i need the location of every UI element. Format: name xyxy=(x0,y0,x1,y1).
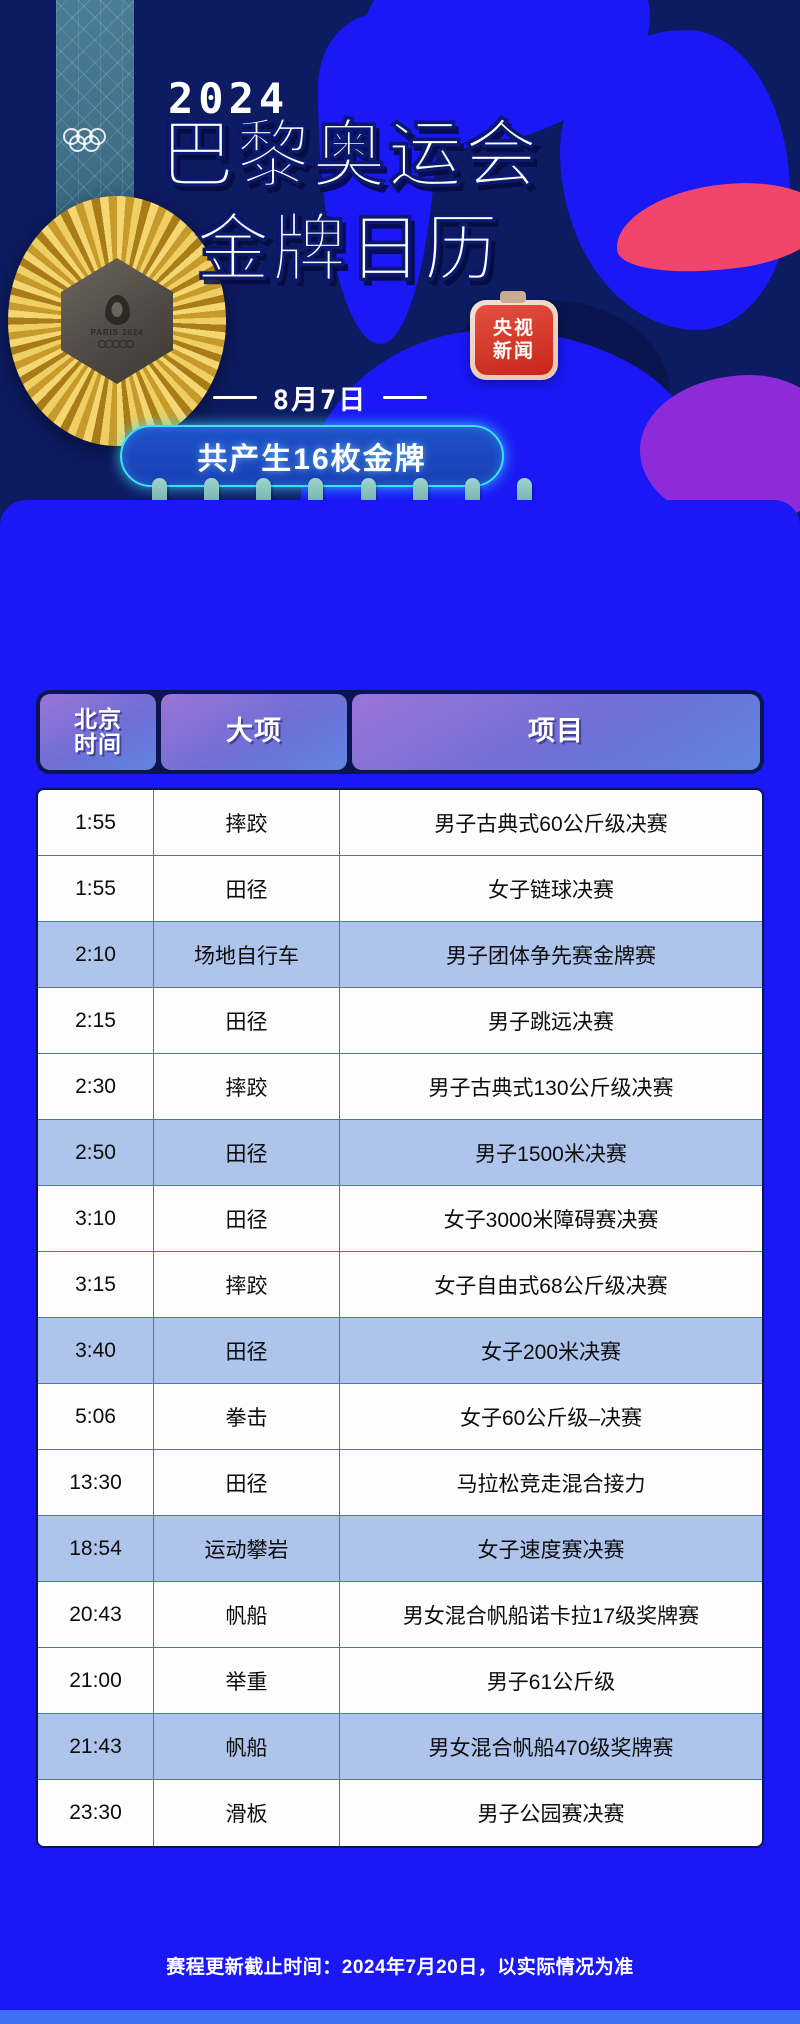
table-row: 3:10田径女子3000米障碍赛决赛 xyxy=(38,1186,762,1252)
cell-time: 1:55 xyxy=(38,856,154,922)
cell-time: 23:30 xyxy=(38,1780,154,1846)
cell-sport: 摔跤 xyxy=(154,1252,340,1318)
cell-event: 男女混合帆船诺卡拉17级奖牌赛 xyxy=(340,1582,762,1648)
table-row: 23:30滑板男子公园赛决赛 xyxy=(38,1780,762,1846)
cell-event: 男子1500米决赛 xyxy=(340,1120,762,1186)
cell-sport: 田径 xyxy=(154,1318,340,1384)
column-header-time: 北京 时间 xyxy=(40,694,156,770)
cell-event: 女子200米决赛 xyxy=(340,1318,762,1384)
cell-event: 男子古典式130公斤级决赛 xyxy=(340,1054,762,1120)
cell-sport: 摔跤 xyxy=(154,1054,340,1120)
cell-event: 男女混合帆船470级奖牌赛 xyxy=(340,1714,762,1780)
cell-time: 21:00 xyxy=(38,1648,154,1714)
table-row: 5:06拳击女子60公斤级–决赛 xyxy=(38,1384,762,1450)
cell-sport: 场地自行车 xyxy=(154,922,340,988)
cell-event: 男子团体争先赛金牌赛 xyxy=(340,922,762,988)
cell-event: 男子公园赛决赛 xyxy=(340,1780,762,1846)
table-header-row: 北京 时间 大项 项目 xyxy=(36,690,764,774)
olympic-gold-calendar-poster: PARIS 2024 2024 巴黎奥运会 金牌日历 央视 新闻 8月7日 共产… xyxy=(0,0,800,2024)
cell-sport: 田径 xyxy=(154,1120,340,1186)
table-row: 21:43帆船男女混合帆船470级奖牌赛 xyxy=(38,1714,762,1780)
cell-event: 男子古典式60公斤级决赛 xyxy=(340,790,762,856)
medal-count-label: 共产生16枚金牌 xyxy=(197,434,426,478)
table-row: 1:55摔跤男子古典式60公斤级决赛 xyxy=(38,790,762,856)
cell-time: 2:50 xyxy=(38,1120,154,1186)
paris2024-flame-icon xyxy=(105,295,130,325)
cell-time: 13:30 xyxy=(38,1450,154,1516)
table-body: 1:55摔跤男子古典式60公斤级决赛1:55田径女子链球决赛2:10场地自行车男… xyxy=(36,788,764,1848)
cell-event: 女子3000米障碍赛决赛 xyxy=(340,1186,762,1252)
cell-time: 20:43 xyxy=(38,1582,154,1648)
table-row: 18:54运动攀岩女子速度赛决赛 xyxy=(38,1516,762,1582)
cell-time: 2:30 xyxy=(38,1054,154,1120)
footer-bar xyxy=(0,2010,800,2024)
table-row: 21:00举重男子61公斤级 xyxy=(38,1648,762,1714)
cell-event: 女子链球决赛 xyxy=(340,856,762,922)
cell-event: 马拉松竞走混合接力 xyxy=(340,1450,762,1516)
olympic-rings-icon-small xyxy=(100,340,134,348)
table-row: 3:15摔跤女子自由式68公斤级决赛 xyxy=(38,1252,762,1318)
cell-time: 5:06 xyxy=(38,1384,154,1450)
cell-sport: 帆船 xyxy=(154,1582,340,1648)
table-row: 1:55田径女子链球决赛 xyxy=(38,856,762,922)
date-row: 8月7日 xyxy=(0,378,640,417)
date-rule-left xyxy=(213,396,257,399)
table-row: 13:30田径马拉松竞走混合接力 xyxy=(38,1450,762,1516)
cctv-badge-line2: 新闻 xyxy=(493,341,535,362)
date-rule-right xyxy=(383,396,427,399)
poster-title-line2: 金牌日历 xyxy=(196,212,500,286)
column-header-time-line2: 时间 xyxy=(74,732,122,757)
table-row: 3:40田径女子200米决赛 xyxy=(38,1318,762,1384)
column-header-time-line1: 北京 xyxy=(74,707,122,732)
cell-sport: 田径 xyxy=(154,1450,340,1516)
cell-sport: 田径 xyxy=(154,856,340,922)
cell-time: 3:15 xyxy=(38,1252,154,1318)
table-row: 2:30摔跤男子古典式130公斤级决赛 xyxy=(38,1054,762,1120)
cctv-badge-line1: 央视 xyxy=(493,318,535,339)
column-header-event: 项目 xyxy=(352,694,760,770)
cell-sport: 田径 xyxy=(154,1186,340,1252)
cell-sport: 帆船 xyxy=(154,1714,340,1780)
cctv-news-badge: 央视 新闻 xyxy=(470,300,558,380)
medal-core: PARIS 2024 xyxy=(61,258,173,384)
cell-event: 女子60公斤级–决赛 xyxy=(340,1384,762,1450)
cell-event: 女子自由式68公斤级决赛 xyxy=(340,1252,762,1318)
footer-note: 赛程更新截止时间：2024年7月20日，以实际情况为准 xyxy=(0,1952,800,1979)
cctv-badge-inner: 央视 新闻 xyxy=(475,305,553,375)
cell-time: 18:54 xyxy=(38,1516,154,1582)
cell-sport: 举重 xyxy=(154,1648,340,1714)
medal-engraving-text: PARIS 2024 xyxy=(91,328,144,337)
cell-sport: 滑板 xyxy=(154,1780,340,1846)
cell-sport: 摔跤 xyxy=(154,790,340,856)
decorative-blob xyxy=(560,30,790,330)
poster-title-line1: 巴黎奥运会 xyxy=(160,118,540,192)
table-row: 2:50田径男子1500米决赛 xyxy=(38,1120,762,1186)
cell-time: 3:40 xyxy=(38,1318,154,1384)
cell-time: 2:10 xyxy=(38,922,154,988)
cell-sport: 田径 xyxy=(154,988,340,1054)
table-row: 2:10场地自行车男子团体争先赛金牌赛 xyxy=(38,922,762,988)
cell-event: 男子跳远决赛 xyxy=(340,988,762,1054)
date-label: 8月7日 xyxy=(273,378,368,417)
cell-event: 男子61公斤级 xyxy=(340,1648,762,1714)
cell-time: 21:43 xyxy=(38,1714,154,1780)
column-header-sport: 大项 xyxy=(161,694,347,770)
schedule-table: 北京 时间 大项 项目 1:55摔跤男子古典式60公斤级决赛1:55田径女子链球… xyxy=(36,690,764,1848)
cell-time: 3:10 xyxy=(38,1186,154,1252)
cell-event: 女子速度赛决赛 xyxy=(340,1516,762,1582)
schedule-card: 北京 时间 大项 项目 1:55摔跤男子古典式60公斤级决赛1:55田径女子链球… xyxy=(0,500,800,2024)
table-row: 2:15田径男子跳远决赛 xyxy=(38,988,762,1054)
table-row: 20:43帆船男女混合帆船诺卡拉17级奖牌赛 xyxy=(38,1582,762,1648)
olympic-rings-icon xyxy=(63,128,127,150)
cell-time: 2:15 xyxy=(38,988,154,1054)
cell-time: 1:55 xyxy=(38,790,154,856)
cell-sport: 拳击 xyxy=(154,1384,340,1450)
cell-sport: 运动攀岩 xyxy=(154,1516,340,1582)
